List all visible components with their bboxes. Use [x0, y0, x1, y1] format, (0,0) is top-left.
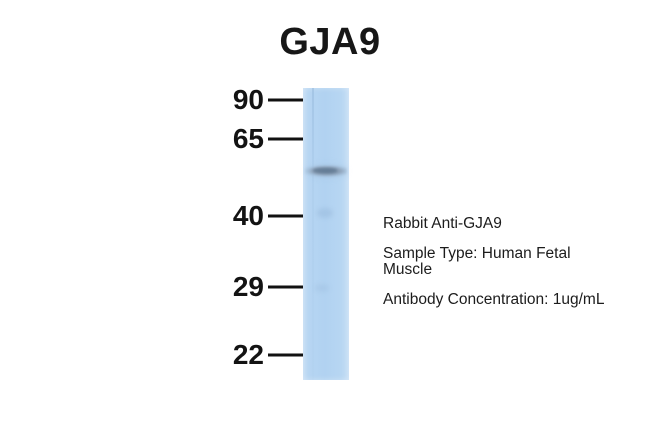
mw-marker-tick-29	[268, 286, 306, 289]
western-blot-figure: GJA9 9065402922 Rabbit Anti-GJA9Sample T…	[0, 0, 650, 433]
mw-marker-tick-22	[268, 354, 306, 357]
mw-marker-tick-65	[268, 138, 306, 141]
annotation-line: Antibody Concentration: 1ug/mL	[383, 292, 645, 308]
mw-marker-label-90: 90	[144, 86, 264, 114]
mw-marker-tick-90	[268, 99, 306, 102]
lane-background	[303, 88, 349, 380]
page-title: GJA9	[5, 20, 650, 64]
annotation-block: Rabbit Anti-GJA9Sample Type: Human Fetal…	[383, 216, 645, 308]
lane-smudge	[317, 208, 333, 218]
mw-marker-label-22: 22	[144, 341, 264, 369]
mw-marker-label-65: 65	[144, 125, 264, 153]
annotation-antibody: Rabbit Anti-GJA9	[383, 216, 645, 232]
annotation-line: Muscle	[383, 262, 645, 278]
mw-marker-label-29: 29	[144, 273, 264, 301]
annotation-line: Rabbit Anti-GJA9	[383, 216, 645, 232]
annotation-sample-type: Sample Type: Human FetalMuscle	[383, 246, 645, 278]
mw-marker-label-40: 40	[144, 202, 264, 230]
lane-smudge-secondary	[315, 284, 329, 292]
lane-edge-streak	[312, 88, 314, 380]
annotation-line: Sample Type: Human Fetal	[383, 246, 645, 262]
annotation-antibody-concentration: Antibody Concentration: 1ug/mL	[383, 292, 645, 308]
gel-lane	[303, 88, 349, 380]
mw-marker-tick-40	[268, 215, 306, 218]
protein-band-core	[313, 168, 337, 173]
